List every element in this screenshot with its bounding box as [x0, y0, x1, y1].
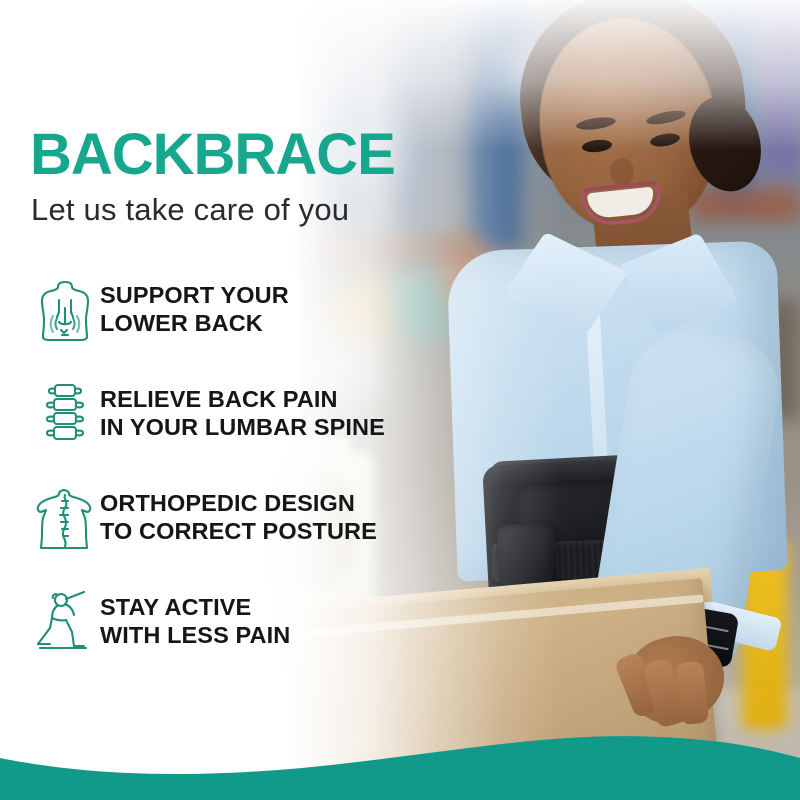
lumbar-vertebrae-icon	[30, 376, 100, 452]
feature-item: SUPPORT YOUR LOWER BACK	[30, 272, 460, 348]
feature-line-1: RELIEVE BACK PAIN	[100, 386, 385, 414]
feature-line-2: IN YOUR LUMBAR SPINE	[100, 414, 385, 442]
page-title: BACKBRACE	[30, 126, 395, 184]
spine-posture-icon	[30, 480, 100, 556]
feature-text: STAY ACTIVE WITH LESS PAIN	[100, 594, 290, 649]
feature-line-1: STAY ACTIVE	[100, 594, 290, 622]
bottom-wave-decoration	[0, 680, 800, 800]
stretching-person-icon	[30, 584, 100, 660]
feature-line-1: SUPPORT YOUR	[100, 282, 289, 310]
feature-item: STAY ACTIVE WITH LESS PAIN	[30, 584, 460, 660]
feature-list: SUPPORT YOUR LOWER BACK	[30, 272, 460, 688]
back-torso-pain-icon	[30, 272, 100, 348]
feature-line-2: LOWER BACK	[100, 310, 289, 338]
feature-text: RELIEVE BACK PAIN IN YOUR LUMBAR SPINE	[100, 386, 385, 441]
feature-item: RELIEVE BACK PAIN IN YOUR LUMBAR SPINE	[30, 376, 460, 452]
feature-text: SUPPORT YOUR LOWER BACK	[100, 282, 289, 337]
feature-text: ORTHOPEDIC DESIGN TO CORRECT POSTURE	[100, 490, 377, 545]
tagline: Let us take care of you	[31, 192, 349, 228]
feature-item: ORTHOPEDIC DESIGN TO CORRECT POSTURE	[30, 480, 460, 556]
feature-line-2: WITH LESS PAIN	[100, 622, 290, 650]
feature-line-2: TO CORRECT POSTURE	[100, 518, 377, 546]
product-marketing-poster: BACKBRACE Let us take care of you	[0, 0, 800, 800]
feature-line-1: ORTHOPEDIC DESIGN	[100, 490, 377, 518]
